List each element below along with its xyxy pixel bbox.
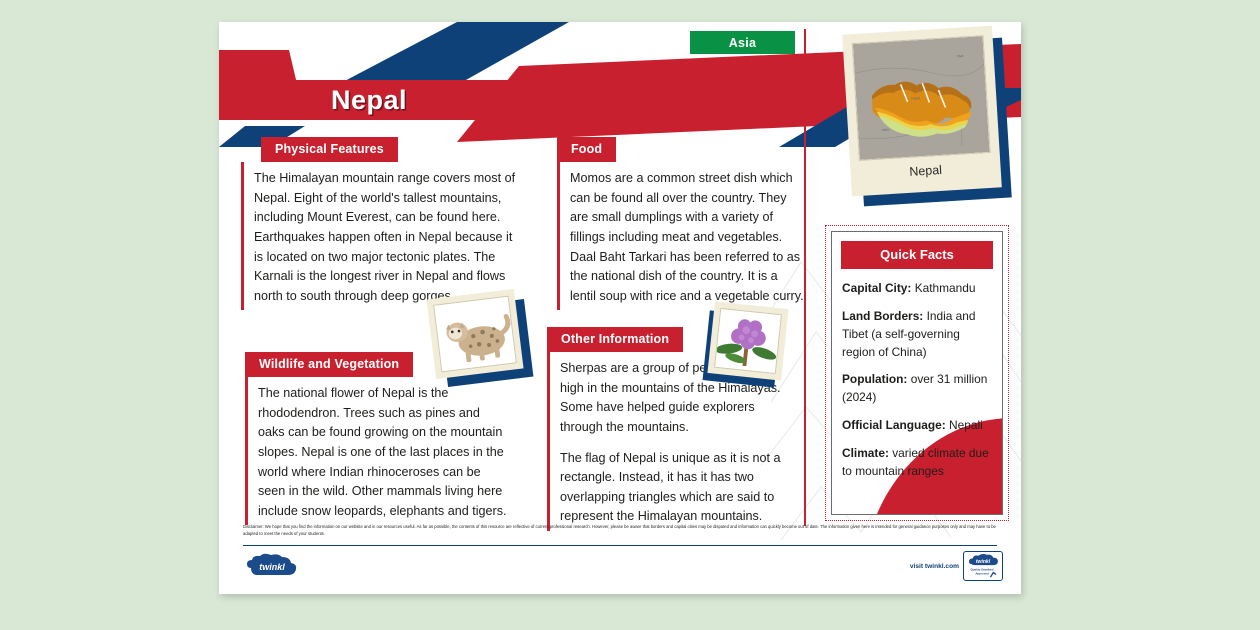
section-heading: Wildlife and Vegetation <box>245 352 413 377</box>
section-body: The national flower of Nepal is the rhod… <box>245 377 507 525</box>
section-heading: Food <box>557 137 616 162</box>
section-heading: Other Information <box>547 327 683 352</box>
quick-fact-value: Nepali <box>949 418 983 432</box>
twinkl-logo: twinkl <box>243 552 301 580</box>
section-food: Food Momos are a common street dish whic… <box>547 137 805 310</box>
footer-divider <box>243 545 997 546</box>
quick-fact-item: Official Language: Nepali <box>842 417 992 435</box>
section-physical-features: Physical Features The Himalayan mountain… <box>231 137 516 310</box>
quick-fact-label: Capital City: <box>842 281 911 295</box>
visit-twinkl-link[interactable]: visit twinkl.com <box>910 563 959 570</box>
quick-fact-label: Land Borders: <box>842 309 923 323</box>
quick-fact-label: Climate: <box>842 446 889 460</box>
region-badge-label: Asia <box>729 36 757 50</box>
map-photo: Tibet India Nepal Nepal <box>842 26 1002 197</box>
svg-text:India: India <box>882 128 890 132</box>
worksheet-page: Nepal Asia Physical Features The Himalay… <box>219 22 1021 594</box>
twinkl-logo-text: twinkl <box>259 562 285 572</box>
svg-text:Tibet: Tibet <box>956 54 964 58</box>
rhododendron-image <box>714 308 782 374</box>
map-caption: Nepal <box>859 160 992 182</box>
quick-fact-item: Land Borders: India and Tibet (a self-go… <box>842 308 992 362</box>
quality-badge-sub-2: Approved <box>975 571 989 575</box>
disclaimer-text: Disclaimer: We hope that you find the in… <box>243 524 997 538</box>
section-heading: Physical Features <box>261 137 398 162</box>
map-image: Tibet India Nepal <box>852 35 991 161</box>
section-body: The Himalayan mountain range covers most… <box>241 162 516 310</box>
section-body: Momos are a common street dish which can… <box>557 162 805 310</box>
section-paragraph: The Himalayan mountain range covers most… <box>254 169 516 306</box>
svg-text:Nepal: Nepal <box>911 96 920 101</box>
quick-fact-item: Climate: varied climate due to mountain … <box>842 445 992 481</box>
section-paragraph: Momos are a common street dish which can… <box>570 169 805 306</box>
quick-facts-heading: Quick Facts <box>841 241 993 269</box>
section-paragraph: The flag of Nepal is unique as it is not… <box>560 449 781 528</box>
snow-leopard-image <box>433 296 517 373</box>
quality-standard-badge: twinkl Quality Standard Approved <box>963 551 1003 581</box>
section-paragraph: The national flower of Nepal is the rhod… <box>258 384 507 521</box>
snow-leopard-photo <box>426 289 523 379</box>
quick-fact-label: Population: <box>842 372 907 386</box>
red-block-left <box>219 50 297 84</box>
quick-fact-item: Capital City: Kathmandu <box>842 280 992 298</box>
quick-fact-item: Population: over 31 million (2024) <box>842 371 992 407</box>
quick-fact-value: Kathmandu <box>915 281 976 295</box>
screenshot-canvas: Nepal Asia Physical Features The Himalay… <box>0 0 1260 630</box>
page-title: Nepal <box>219 80 519 120</box>
region-badge: Asia <box>690 31 795 54</box>
quick-facts-panel: Quick Facts Capital City: Kathmandu Land… <box>825 225 1009 521</box>
quick-facts-list: Capital City: Kathmandu Land Borders: In… <box>832 269 1002 481</box>
quality-badge-text: twinkl <box>976 559 991 565</box>
quick-facts-inner: Quick Facts Capital City: Kathmandu Land… <box>831 231 1003 515</box>
quick-fact-label: Official Language: <box>842 418 946 432</box>
rhododendron-photo <box>707 301 788 380</box>
